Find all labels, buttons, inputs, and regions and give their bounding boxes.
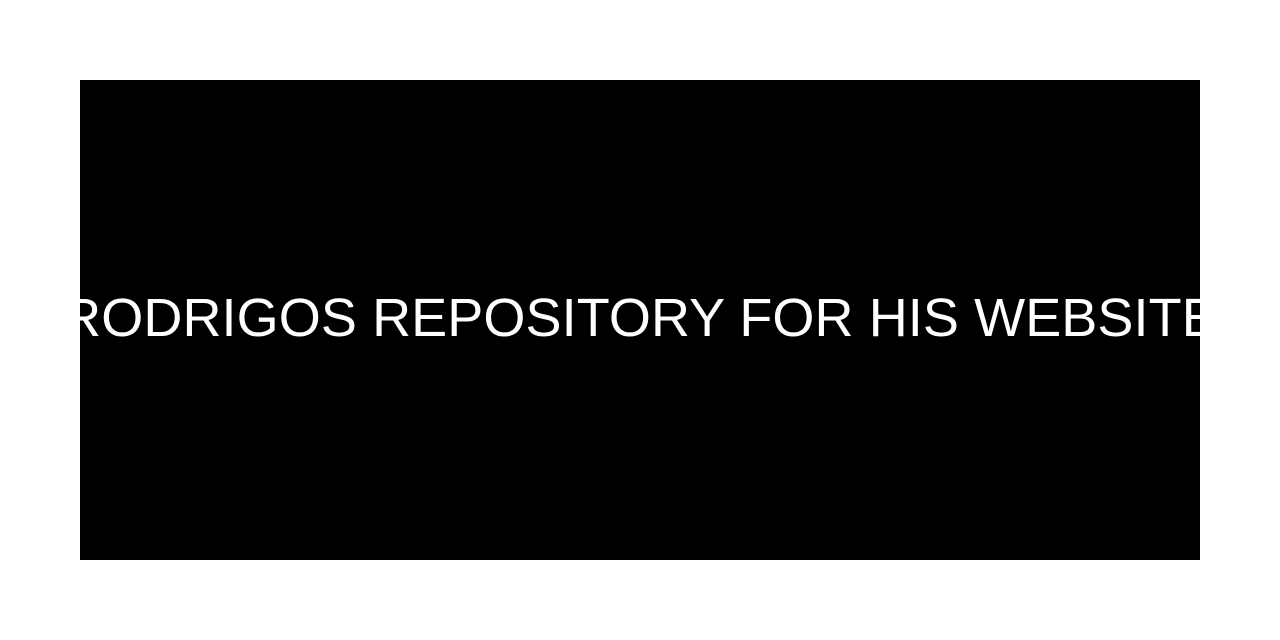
title-banner: RODRIGOS REPOSITORY FOR HIS WEBSITE — [80, 80, 1200, 560]
title-banner-content: RODRIGOS REPOSITORY FOR HIS WEBSITE — [80, 289, 1200, 347]
page-canvas: RODRIGOS REPOSITORY FOR HIS WEBSITE — [0, 0, 1280, 640]
banner-title-text: RODRIGOS REPOSITORY FOR HIS WEBSITE — [62, 289, 1218, 347]
